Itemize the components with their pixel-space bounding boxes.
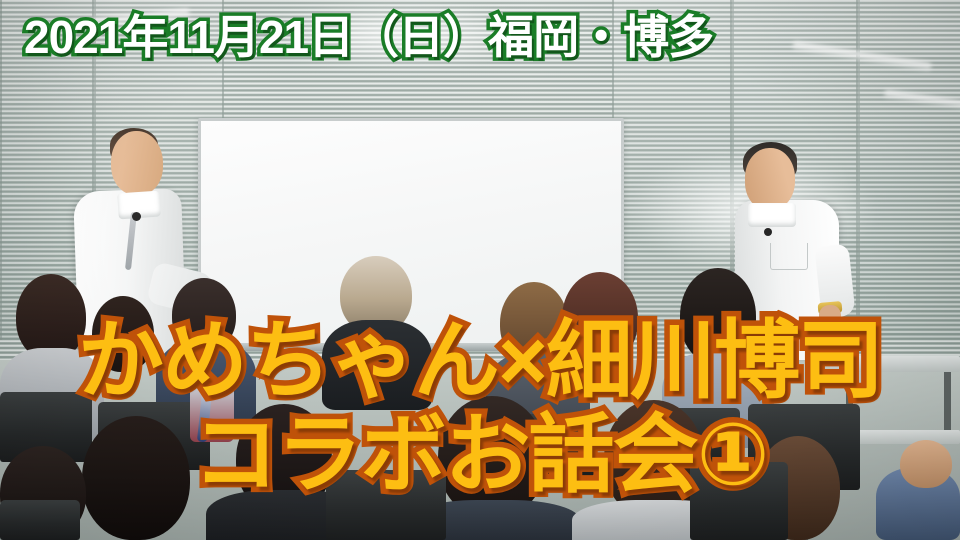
presenter-left-head (111, 131, 163, 195)
main-title-line-2: コラボお話会① (0, 412, 960, 500)
main-title: かめちゃん×細川博司 コラボお話会① (0, 318, 960, 499)
presenter-right-pocket (770, 243, 808, 270)
presenter-right-collar (748, 203, 796, 227)
video-thumbnail: 2021年11月21日（日）福岡・博多 かめちゃん×細川博司 コラボお話会① (0, 0, 960, 540)
main-title-line-1: かめちゃん×細川博司 (0, 318, 960, 406)
presenter-left-microphone (132, 212, 141, 221)
date-caption: 2021年11月21日（日）福岡・博多 (24, 10, 713, 64)
chair (0, 500, 80, 540)
presenter-right-head (745, 148, 795, 210)
presenter-right-microphone (764, 228, 772, 236)
